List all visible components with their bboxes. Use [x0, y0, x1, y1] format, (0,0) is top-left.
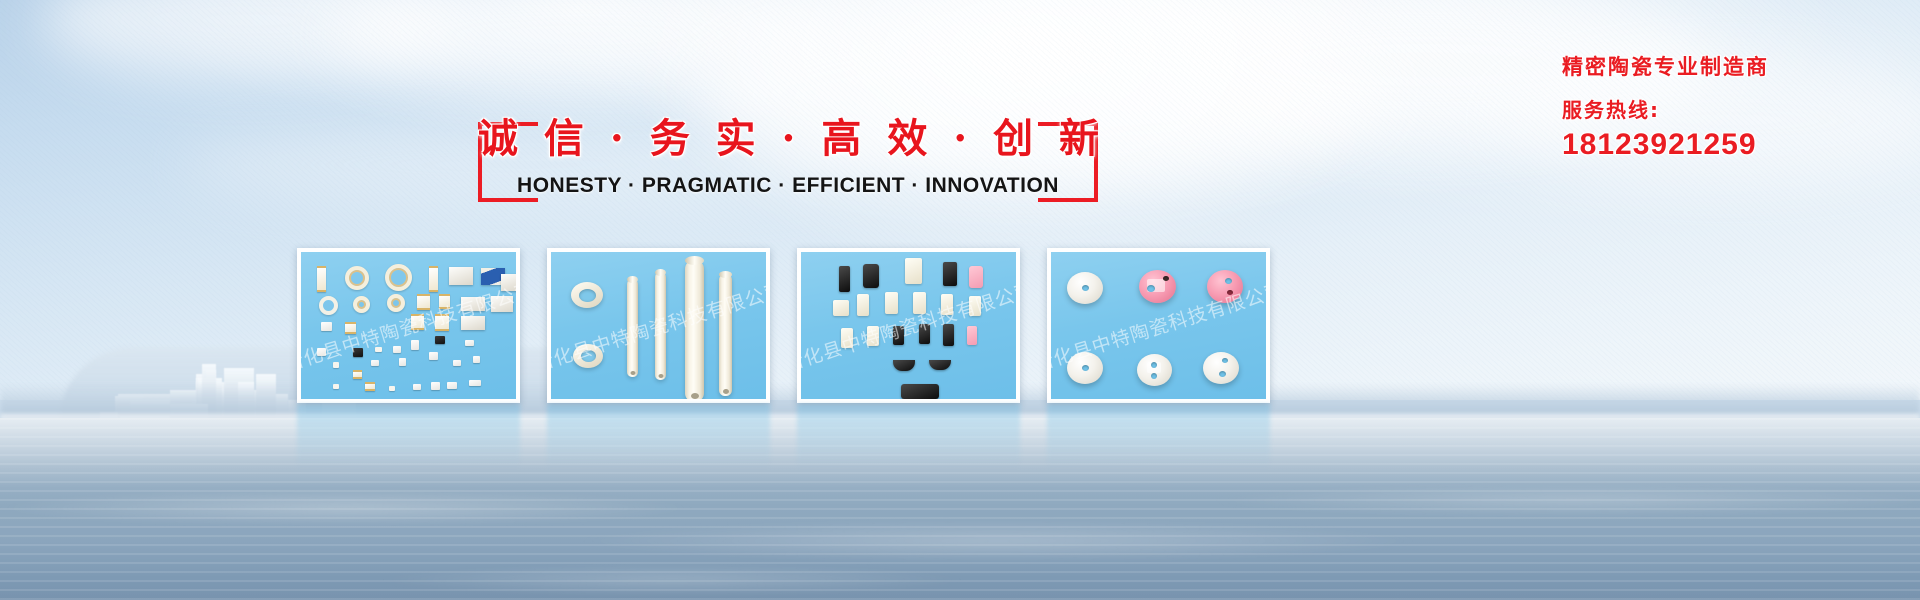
water-surface: [0, 418, 1920, 600]
product-panel-smd-components[interactable]: 新化县中特陶瓷科技有限公司: [297, 248, 520, 403]
hotline-label: 服务热线:: [1562, 96, 1902, 124]
product-panel-discs[interactable]: 新化县中特陶瓷科技有限公司: [1047, 248, 1270, 403]
slogan-chinese: 诚 信 · 务 实 · 高 效 · 创 新: [478, 108, 1098, 170]
hotline-number[interactable]: 18123921259: [1562, 126, 1902, 164]
panel-image-smd: 新化县中特陶瓷科技有限公司: [301, 252, 516, 399]
panel-image-blocks: 新化县中特陶瓷科技有限公司: [801, 252, 1016, 399]
panel-image-discs: 新化县中特陶瓷科技有限公司: [1051, 252, 1266, 399]
product-panel-blocks[interactable]: 新化县中特陶瓷科技有限公司: [797, 248, 1020, 403]
slogan-english: HONESTY · PRAGMATIC · EFFICIENT · INNOVA…: [478, 170, 1098, 202]
company-tagline: 精密陶瓷专业制造商: [1562, 52, 1902, 82]
panel-image-tubes: 新化县中特陶瓷科技有限公司: [551, 252, 766, 399]
product-panel-tubes[interactable]: 新化县中特陶瓷科技有限公司: [547, 248, 770, 403]
water-texture: [0, 418, 1920, 600]
promo-banner: 诚 信 · 务 实 · 高 效 · 创 新 HONESTY · PRAGMATI…: [0, 0, 1920, 600]
product-panel-row: 新化县中特陶瓷科技有限公司: [297, 248, 1573, 403]
slogan-block: 诚 信 · 务 实 · 高 效 · 创 新 HONESTY · PRAGMATI…: [478, 108, 1098, 208]
contact-block: 精密陶瓷专业制造商 服务热线: 18123921259: [1562, 52, 1902, 164]
